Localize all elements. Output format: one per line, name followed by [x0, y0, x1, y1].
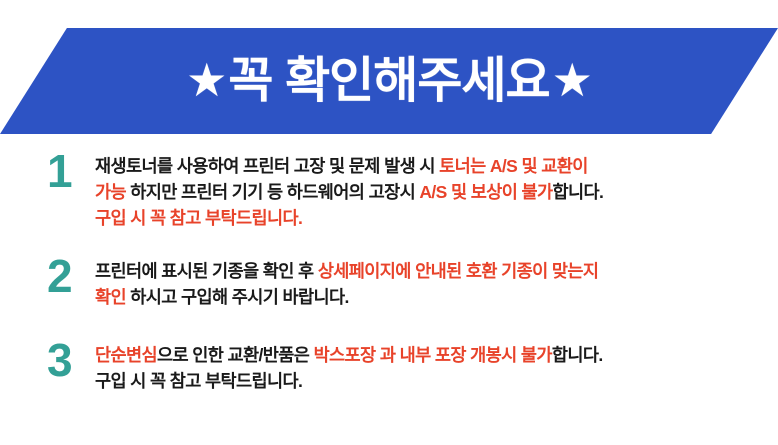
notice-item: 2프린터에 표시된 기종을 확인 후 상세페이지에 안내된 호환 기종이 맞는지… — [0, 253, 778, 310]
notice-item-number: 1 — [47, 148, 95, 193]
body-text: 합니다. — [553, 182, 604, 202]
notice-item-line: 가능 하지만 프린터 기기 등 하드웨어의 고장시 A/S 및 보상이 불가합니… — [95, 179, 778, 205]
star-right-icon: ★ — [552, 57, 592, 103]
highlighted-text: 토너는 A/S 및 교환이 — [439, 156, 588, 176]
notice-item-line: 프린터에 표시된 기종을 확인 후 상세페이지에 안내된 호환 기종이 맞는지 — [95, 258, 778, 284]
notice-item-line: 재생토너를 사용하여 프린터 고장 및 문제 발생 시 토너는 A/S 및 교환… — [95, 153, 778, 179]
banner-text-row: ★ 꼭 확인해주세요 ★ — [0, 28, 778, 134]
notice-item-line: 단순변심으로 인한 교환/반품은 박스포장 과 내부 포장 개봉시 불가합니다. — [95, 342, 778, 368]
highlighted-text: 가능 — [95, 182, 126, 202]
body-text: 으로 인한 교환/반품은 — [157, 345, 314, 365]
notice-item-list: 1재생토너를 사용하여 프린터 고장 및 문제 발생 시 토너는 A/S 및 교… — [0, 148, 778, 394]
star-left-icon: ★ — [186, 57, 226, 103]
notice-item-body: 단순변심으로 인한 교환/반품은 박스포장 과 내부 포장 개봉시 불가합니다.… — [95, 337, 778, 394]
highlighted-text: 박스포장 과 내부 포장 개봉시 불가 — [314, 345, 552, 365]
body-text: 하시고 구입해 주시기 바랍니다. — [126, 287, 349, 307]
body-text: 프린터에 표시된 기종을 확인 후 — [95, 261, 318, 281]
notice-item: 3단순변심으로 인한 교환/반품은 박스포장 과 내부 포장 개봉시 불가합니다… — [0, 337, 778, 394]
header-banner: ★ 꼭 확인해주세요 ★ — [0, 28, 778, 134]
notice-item-number: 3 — [47, 337, 95, 382]
body-text: 하지만 프린터 기기 등 하드웨어의 고장시 — [126, 182, 419, 202]
notice-page: ★ 꼭 확인해주세요 ★ 1재생토너를 사용하여 프린터 고장 및 문제 발생 … — [0, 0, 778, 445]
notice-item: 1재생토너를 사용하여 프린터 고장 및 문제 발생 시 토너는 A/S 및 교… — [0, 148, 778, 231]
highlighted-text: 확인 — [95, 287, 126, 307]
banner-title: 꼭 확인해주세요 — [226, 57, 551, 106]
highlighted-text: 구입 시 꼭 참고 부탁드립니다. — [95, 208, 302, 228]
notice-item-body: 프린터에 표시된 기종을 확인 후 상세페이지에 안내된 호환 기종이 맞는지확… — [95, 253, 778, 310]
highlighted-text: 단순변심 — [95, 345, 157, 365]
notice-item-line: 확인 하시고 구입해 주시기 바랍니다. — [95, 284, 778, 310]
body-text: 합니다. — [552, 345, 603, 365]
highlighted-text: A/S 및 보상이 불가 — [419, 182, 552, 202]
notice-item-body: 재생토너를 사용하여 프린터 고장 및 문제 발생 시 토너는 A/S 및 교환… — [95, 148, 778, 231]
notice-item-number: 2 — [47, 253, 95, 298]
notice-item-line: 구입 시 꼭 참고 부탁드립니다. — [95, 368, 778, 394]
body-text: 재생토너를 사용하여 프린터 고장 및 문제 발생 시 — [95, 156, 439, 176]
notice-item-line: 구입 시 꼭 참고 부탁드립니다. — [95, 205, 778, 231]
body-text: 구입 시 꼭 참고 부탁드립니다. — [95, 371, 302, 391]
highlighted-text: 상세페이지에 안내된 호환 기종이 맞는지 — [318, 261, 599, 281]
